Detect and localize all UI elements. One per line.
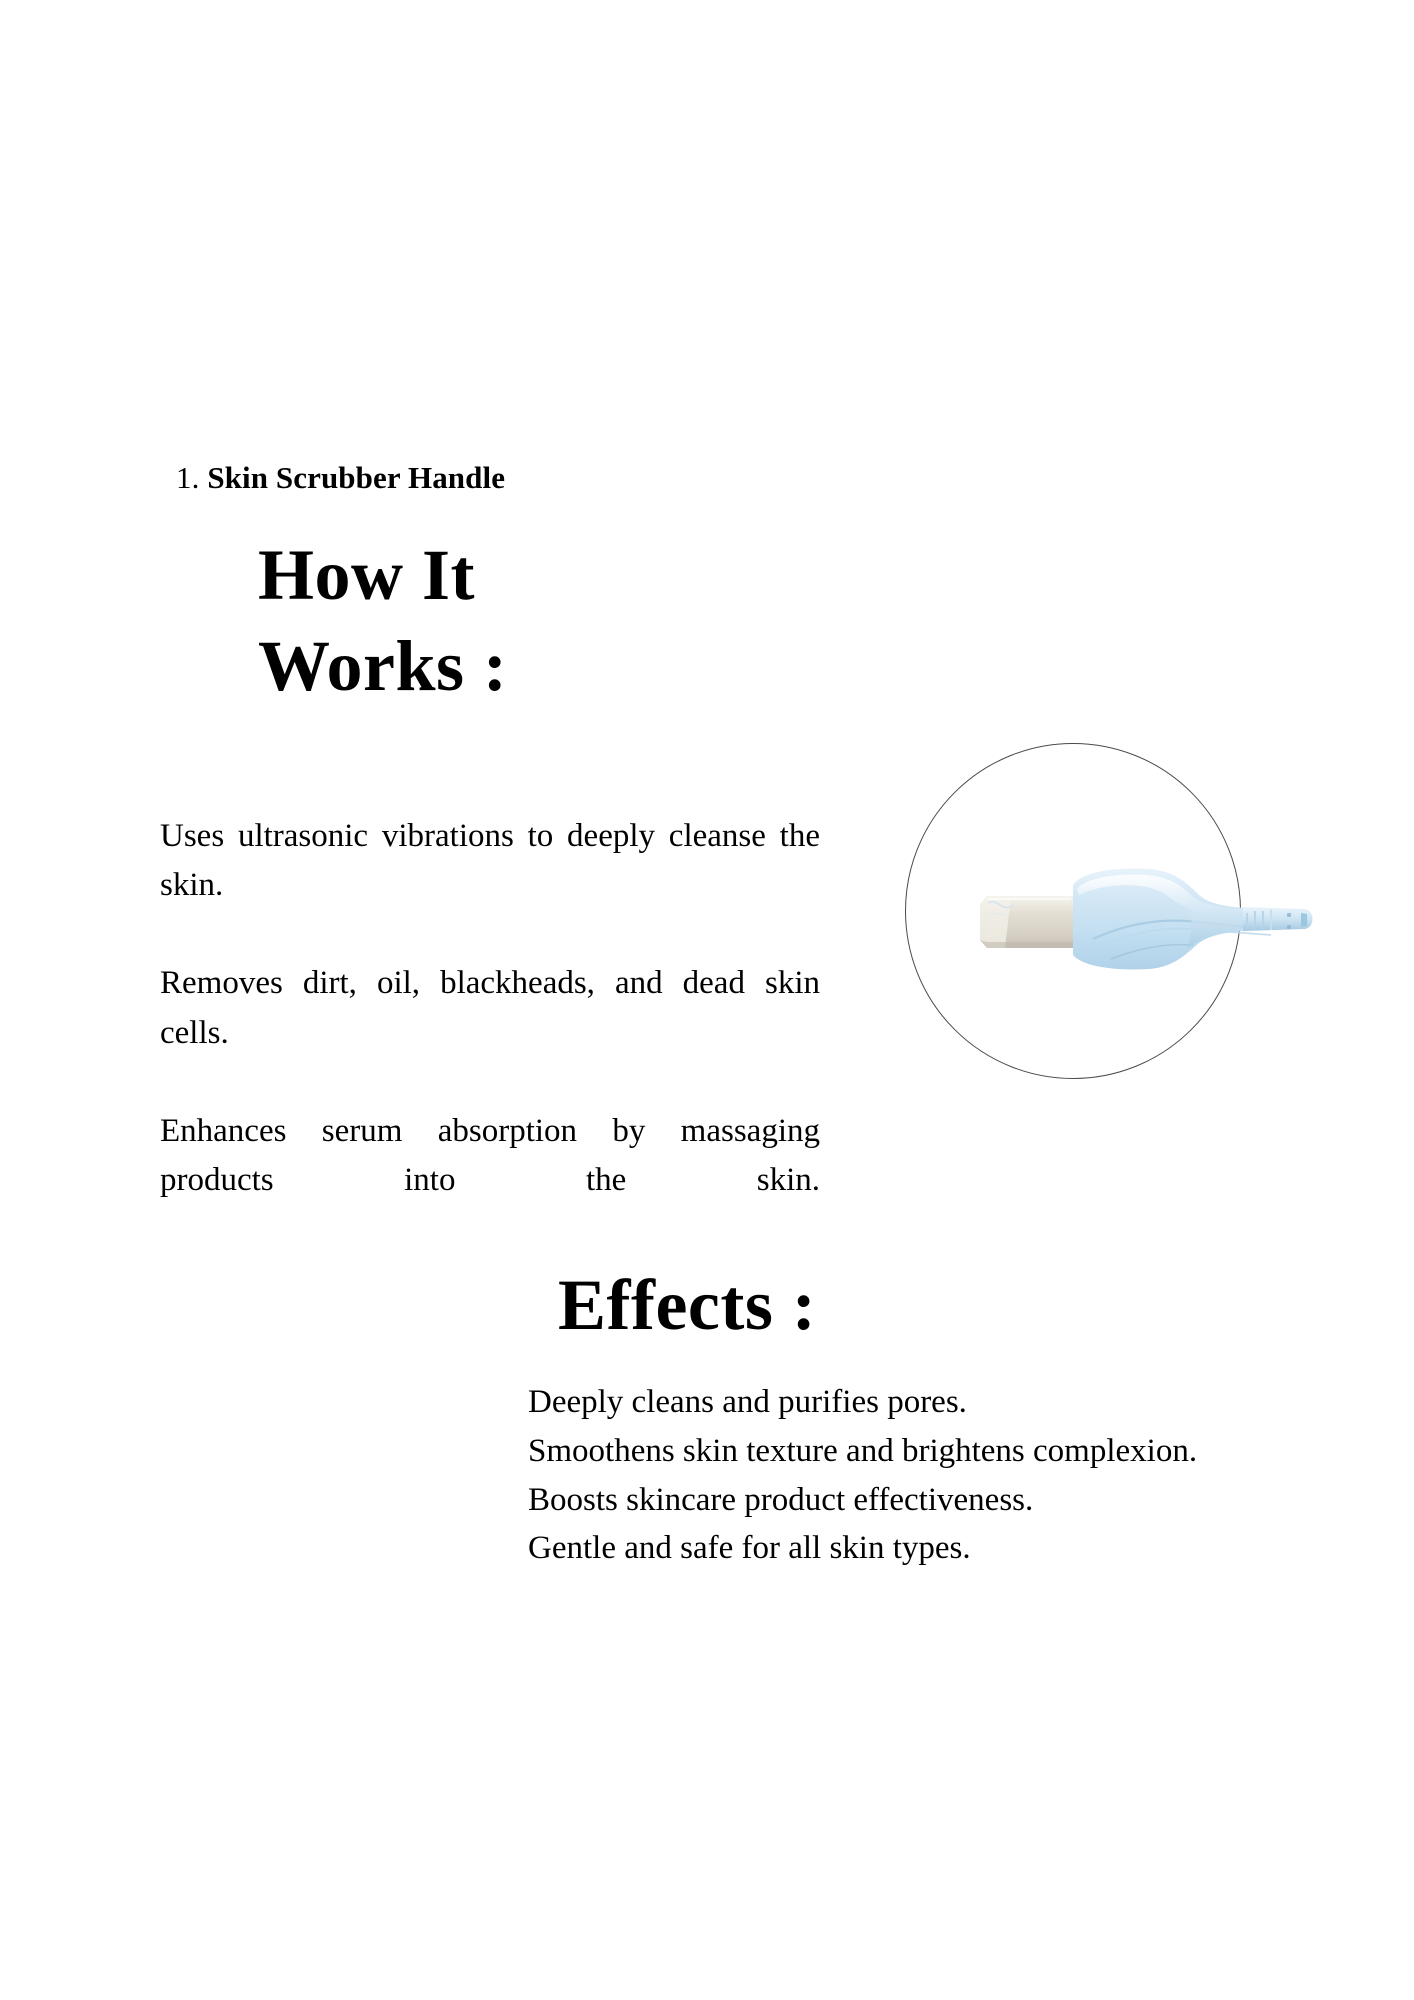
how-it-works-paragraph-2: Removes dirt, oil, blackheads, and dead … <box>160 959 820 1106</box>
how-it-works-body: Uses ultrasonic vibrations to deeply cle… <box>160 812 820 1254</box>
effects-paragraph-2: Smoothens skin texture and brightens com… <box>528 1427 1228 1476</box>
effects-paragraph-1: Deeply cleans and purifies pores. <box>528 1378 1228 1427</box>
effects-heading: Effects : <box>558 1262 816 1348</box>
effects-paragraph-3: Boosts skincare product effectiveness. <box>528 1476 1228 1525</box>
scrubber-tail-cap <box>1243 907 1313 931</box>
how-it-works-paragraph-1: Uses ultrasonic vibrations to deeply cle… <box>160 812 820 959</box>
section-title: Skin Scrubber Handle <box>207 460 505 495</box>
how-it-works-heading-line-1: How It <box>258 530 678 621</box>
section-heading: 1. Skin Scrubber Handle <box>176 460 505 496</box>
how-it-works-paragraph-3: Enhances serum absorption by massaging p… <box>160 1107 820 1254</box>
section-number: 1. <box>176 460 199 495</box>
product-image-frame <box>905 743 1241 1079</box>
effects-body: Deeply cleans and purifies pores. Smooth… <box>528 1378 1228 1573</box>
how-it-works-heading-line-2: Works : <box>258 621 678 712</box>
effects-paragraph-4: Gentle and safe for all skin types. <box>528 1524 1228 1573</box>
document-page: 1. Skin Scrubber Handle How It Works : U… <box>0 0 1414 2000</box>
how-it-works-heading: How It Works : <box>258 530 678 713</box>
